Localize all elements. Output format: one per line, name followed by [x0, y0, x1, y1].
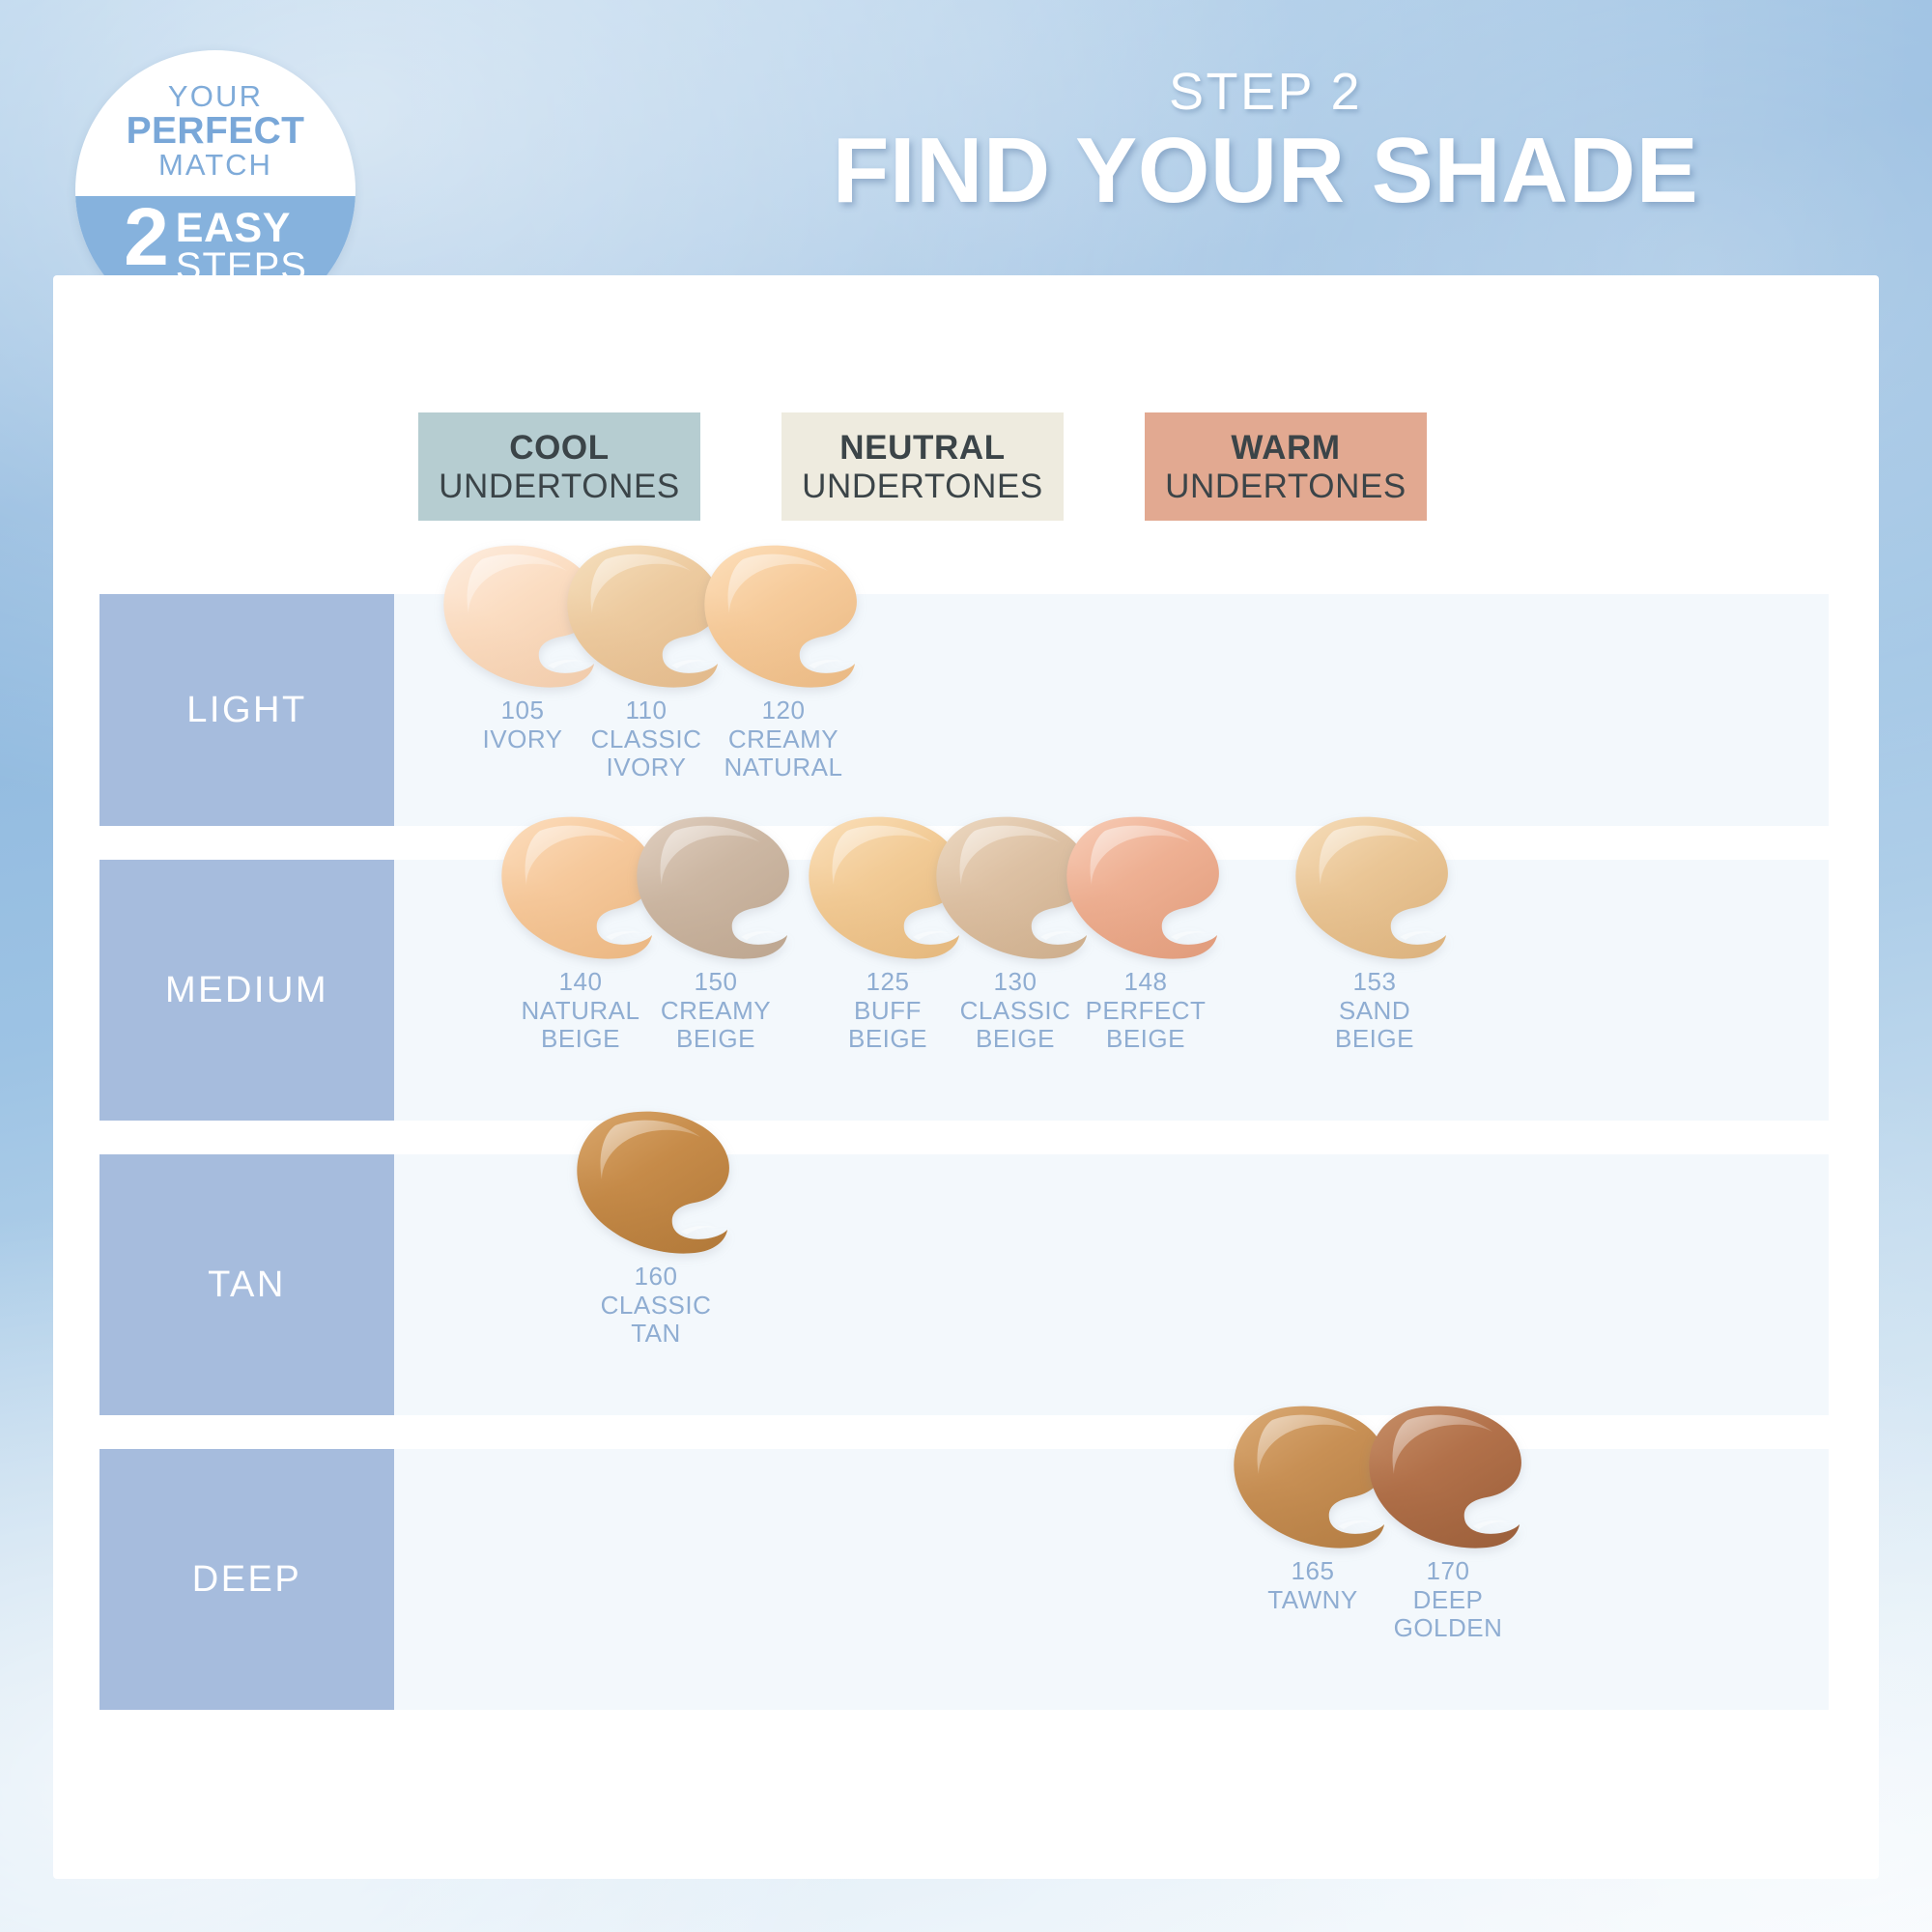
shade-swatch-120[interactable]: 120CREAMYNATURAL	[689, 594, 878, 826]
shade-code: 170	[1394, 1557, 1503, 1586]
badge-line-match: MATCH	[158, 150, 272, 181]
undertone-chip-warm-main: WARM	[1231, 431, 1340, 465]
badge-top-half: YOUR PERFECT MATCH	[75, 50, 355, 196]
shade-code: 160	[601, 1263, 712, 1292]
shade-row-medium: MEDIUM 140NATURALBEIGE	[99, 860, 1829, 1121]
undertone-chip-warm: WARM UNDERTONES	[1145, 412, 1427, 521]
shade-code: 153	[1335, 968, 1414, 997]
shade-code: 148	[1086, 968, 1207, 997]
undertone-chip-cool-sub: UNDERTONES	[439, 469, 680, 503]
foundation-smear-icon	[1063, 815, 1229, 960]
foundation-smear-icon	[1365, 1405, 1531, 1549]
page-title: FIND YOUR SHADE	[696, 122, 1835, 220]
shade-code: 150	[661, 968, 771, 997]
swatch-holder-light: 105IVORY 110CLASSICIVORY	[99, 594, 1829, 826]
shade-code: 165	[1267, 1557, 1358, 1586]
undertone-chip-neutral: NEUTRAL UNDERTONES	[781, 412, 1064, 521]
undertone-chip-warm-sub: UNDERTONES	[1165, 469, 1406, 503]
shade-row-tan: TAN 160CLASSICTAN	[99, 1154, 1829, 1415]
foundation-smear-icon	[573, 1110, 739, 1255]
undertone-chip-cool: COOL UNDERTONES	[418, 412, 700, 521]
badge-line-your: YOUR	[168, 81, 263, 112]
badge-line-perfect: PERFECT	[127, 112, 305, 151]
shade-name: CLASSICTAN	[601, 1292, 712, 1349]
shade-swatch-160[interactable]: 160CLASSICTAN	[561, 1154, 751, 1415]
undertone-chip-cool-main: COOL	[509, 431, 610, 465]
undertone-chip-neutral-sub: UNDERTONES	[802, 469, 1043, 503]
shade-label: 120CREAMYNATURAL	[724, 696, 843, 782]
shade-label: 110CLASSICIVORY	[591, 696, 702, 782]
shade-label: 170DEEPGOLDEN	[1394, 1557, 1503, 1643]
shade-name: CLASSICIVORY	[591, 725, 702, 782]
shade-swatch-153[interactable]: 153SANDBEIGE	[1280, 860, 1469, 1121]
shade-row-deep: DEEP 165TAWNY	[99, 1449, 1829, 1710]
shade-name: CREAMYBEIGE	[661, 997, 771, 1054]
shade-swatch-150[interactable]: 150CREAMYBEIGE	[621, 860, 810, 1121]
undertone-header-row: COOL UNDERTONES NEUTRAL UNDERTONES WARM …	[418, 412, 1790, 521]
undertone-chip-neutral-main: NEUTRAL	[839, 431, 1005, 465]
shade-label: 125BUFFBEIGE	[848, 968, 927, 1054]
shade-name: DEEPGOLDEN	[1394, 1586, 1503, 1643]
shade-name: TAWNY	[1267, 1586, 1358, 1615]
shade-label: 153SANDBEIGE	[1335, 968, 1414, 1054]
shade-name: PERFECTBEIGE	[1086, 997, 1207, 1054]
shade-swatch-148[interactable]: 148PERFECTBEIGE	[1051, 860, 1240, 1121]
shade-label: 150CREAMYBEIGE	[661, 968, 771, 1054]
shade-name: CREAMYNATURAL	[724, 725, 843, 782]
shade-swatch-170[interactable]: 170DEEPGOLDEN	[1353, 1449, 1543, 1710]
shade-row-light: LIGHT 105IVORY	[99, 594, 1829, 826]
shade-code: 110	[591, 696, 702, 725]
shade-name: BUFFBEIGE	[848, 997, 927, 1054]
step-eyebrow: STEP 2	[696, 64, 1835, 120]
badge-line-easy: EASY	[176, 208, 307, 248]
shade-code: 120	[724, 696, 843, 725]
foundation-smear-icon	[1292, 815, 1458, 960]
badge-step-number: 2	[124, 200, 167, 274]
swatch-holder-medium: 140NATURALBEIGE 150CREAMYBEIGE	[99, 860, 1829, 1121]
shade-label: 148PERFECTBEIGE	[1086, 968, 1207, 1054]
badge-steps-words: EASY STEPS	[176, 200, 307, 286]
foundation-smear-icon	[633, 815, 799, 960]
shade-label: 165TAWNY	[1267, 1557, 1358, 1614]
swatch-holder-tan: 160CLASSICTAN	[99, 1154, 1829, 1415]
page-header: STEP 2 FIND YOUR SHADE	[696, 64, 1835, 220]
swatch-holder-deep: 165TAWNY 170DEEPGOLDEN	[99, 1449, 1829, 1710]
shade-label: 160CLASSICTAN	[601, 1263, 712, 1349]
foundation-smear-icon	[700, 544, 867, 689]
shade-code: 125	[848, 968, 927, 997]
shade-name: SANDBEIGE	[1335, 997, 1414, 1054]
shade-chart-panel: COOL UNDERTONES NEUTRAL UNDERTONES WARM …	[53, 275, 1879, 1879]
